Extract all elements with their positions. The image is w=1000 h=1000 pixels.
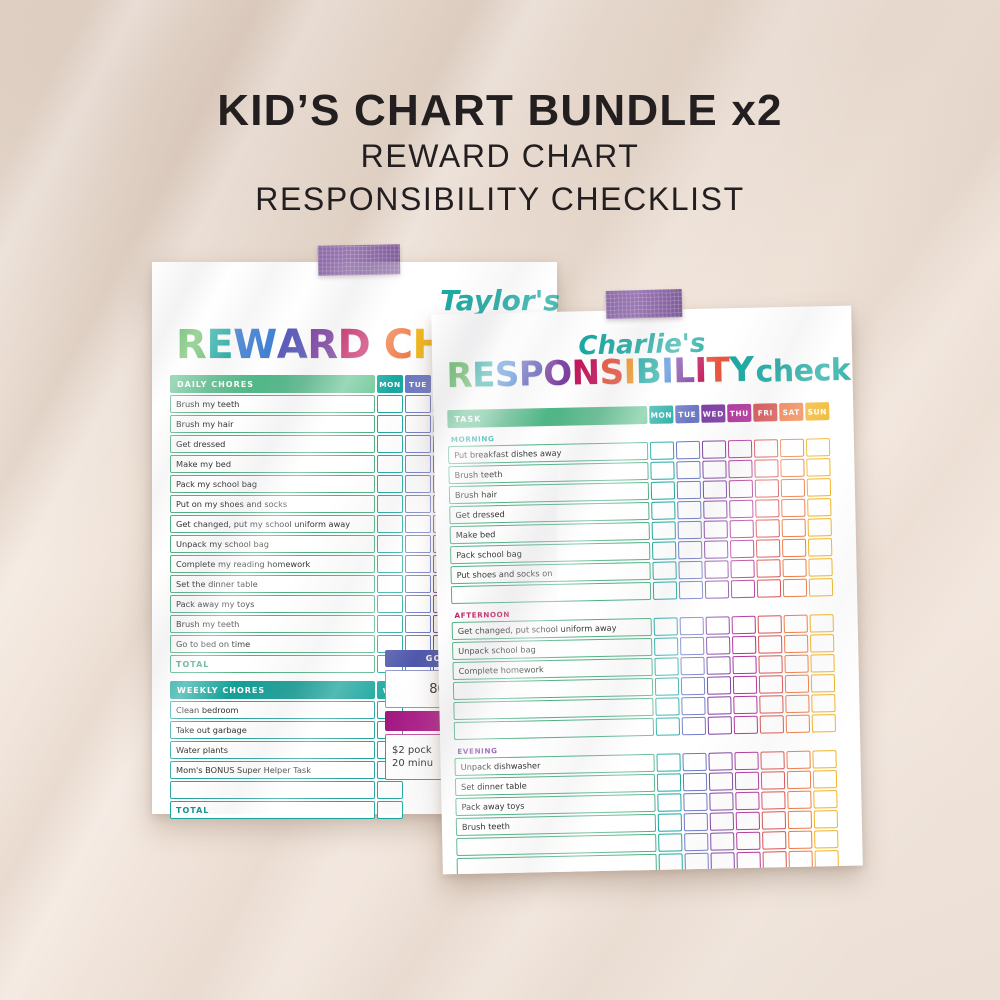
checkbox-cell-fri[interactable] <box>759 675 783 693</box>
checkbox-cell-wed[interactable] <box>707 696 731 714</box>
checkbox-cell-thu[interactable] <box>728 460 752 478</box>
checkbox-cell-tue[interactable] <box>678 561 702 579</box>
task-label[interactable]: Put on my shoes and socks <box>170 495 375 513</box>
task-label[interactable]: Complete my reading homework <box>170 555 375 573</box>
table-header-row: DAILY CHORESMONTUEWED <box>170 375 459 393</box>
checkbox-cell-thu[interactable] <box>732 656 756 674</box>
section-label: AFTERNOON <box>451 605 510 621</box>
checkbox-cell-sun[interactable] <box>806 438 830 456</box>
checkbox-cell-tue[interactable] <box>405 575 431 593</box>
checkbox-cell-mon[interactable] <box>377 535 403 553</box>
checkbox-cell-tue[interactable] <box>680 617 704 635</box>
title-letter-S-6: S <box>599 352 624 392</box>
total-row: TOTAL <box>170 801 459 819</box>
task-label[interactable]: Make bed <box>450 522 650 544</box>
checkbox-cell-thu[interactable] <box>728 440 752 458</box>
checkbox-cell-tue[interactable] <box>682 717 706 735</box>
checkbox-cell-mon[interactable] <box>657 793 681 811</box>
checkbox-cell-mon[interactable] <box>377 515 403 533</box>
table-row: Brush my hair <box>170 415 459 433</box>
checkbox-cell-fri[interactable] <box>756 539 780 557</box>
checkbox-cell-wed[interactable] <box>703 480 727 498</box>
task-label[interactable] <box>456 834 656 856</box>
checkbox-cell-fri[interactable] <box>761 791 785 809</box>
task-label[interactable]: Pack away my toys <box>170 595 375 613</box>
checkbox-cell-sun[interactable] <box>808 518 832 536</box>
task-label[interactable]: Mom's BONUS Super Helper Task <box>170 761 375 779</box>
section-label: EVENING <box>454 741 497 757</box>
checkbox-cell-fri[interactable] <box>758 635 782 653</box>
checkbox-cell-thu[interactable] <box>734 752 758 770</box>
checkbox-cell-mon[interactable] <box>653 581 677 599</box>
checkbox-cell-fri[interactable] <box>761 771 785 789</box>
table-row: Complete my reading homework <box>170 555 459 573</box>
checkbox-cell-thu[interactable] <box>733 676 757 694</box>
checkbox-cell-tue[interactable] <box>405 495 431 513</box>
checkbox-cell-sat[interactable] <box>787 791 811 809</box>
checkbox-cell-mon[interactable] <box>651 501 675 519</box>
checkbox-cell-tue[interactable] <box>405 555 431 573</box>
title-letter-R-4: R <box>307 322 337 368</box>
task-label[interactable] <box>454 718 654 740</box>
checkbox-cell-wed[interactable] <box>706 656 730 674</box>
checkbox-cell-tue[interactable] <box>681 677 705 695</box>
checkbox-cell-sun[interactable] <box>809 578 833 596</box>
checkbox-cell-tue[interactable] <box>678 541 702 559</box>
checkbox-cell-sun[interactable] <box>811 674 835 692</box>
checkbox-cell-fri[interactable] <box>755 499 779 517</box>
task-label[interactable]: Make my bed <box>170 455 375 473</box>
table-row: Put on my shoes and socks <box>170 495 459 513</box>
table-row: Pack my school bag <box>170 475 459 493</box>
checkbox-cell-tue[interactable] <box>405 595 431 613</box>
checkbox-cell-mon[interactable] <box>652 561 676 579</box>
column-header-task: WEEKLY CHORES <box>170 681 375 699</box>
checkbox-cell-tue[interactable] <box>685 853 709 871</box>
checkbox-cell-tue[interactable] <box>677 481 701 499</box>
checkbox-cell-sun[interactable] <box>807 478 831 496</box>
checkbox-cell-wed[interactable] <box>704 540 728 558</box>
checkbox-cell-tue[interactable] <box>679 581 703 599</box>
checkbox-cell-thu[interactable] <box>730 520 754 538</box>
checkbox-cell-tue[interactable] <box>682 753 706 771</box>
column-header-task: DAILY CHORES <box>170 375 375 393</box>
checkbox-cell-wed[interactable] <box>705 580 729 598</box>
title-letter-E-1: E <box>472 355 496 395</box>
checkbox-cell-tue[interactable] <box>405 615 431 633</box>
checkbox-cell-sat[interactable] <box>784 655 808 673</box>
checkbox-cell-fri[interactable] <box>760 715 784 733</box>
task-label[interactable]: Complete homework <box>452 658 652 680</box>
checkbox-cell-mon[interactable] <box>650 461 674 479</box>
column-header-task: TASK <box>447 406 647 428</box>
checkbox-cell-mon[interactable] <box>654 657 678 675</box>
checkbox-cell-fri[interactable] <box>759 695 783 713</box>
checkbox-cell-wed[interactable] <box>704 560 728 578</box>
checkbox-cell-thu[interactable] <box>732 636 756 654</box>
checkbox-cell-sat[interactable] <box>785 695 809 713</box>
washi-tape-right <box>606 289 683 319</box>
checkbox-cell-sun[interactable] <box>813 790 837 808</box>
checkbox-cell-mon[interactable] <box>656 753 680 771</box>
checkbox-cell-fri[interactable] <box>760 751 784 769</box>
task-label[interactable]: Unpack my school bag <box>170 535 375 553</box>
task-label[interactable]: Brush my teeth <box>170 395 375 413</box>
checkbox-cell-thu[interactable] <box>730 560 754 578</box>
checkbox-cell-thu[interactable] <box>730 540 754 558</box>
checkbox-cell-tue[interactable] <box>405 455 431 473</box>
checkbox-cell-sat[interactable] <box>785 675 809 693</box>
checkbox-cell-mon[interactable] <box>652 521 676 539</box>
task-label[interactable]: Put shoes and socks on <box>450 562 650 584</box>
title-letter-W-2: W <box>233 322 277 368</box>
checkbox-cell-thu[interactable] <box>733 696 757 714</box>
task-label[interactable]: Brush my teeth <box>170 615 375 633</box>
checkbox-cell-tue[interactable] <box>676 441 700 459</box>
checkbox-cell-wed[interactable] <box>706 636 730 654</box>
checkbox-cell-sat[interactable] <box>788 811 812 829</box>
checkbox-cell-mon[interactable] <box>377 555 403 573</box>
page-title: KID’S CHART BUNDLE x2 <box>0 86 1000 135</box>
checkbox-cell-sat[interactable] <box>781 479 805 497</box>
checkbox-cell-thu[interactable] <box>734 716 758 734</box>
task-label[interactable]: Get dressed <box>449 502 649 524</box>
page-subtitle-1: REWARD CHART <box>0 135 1000 178</box>
checkbox-cell-mon[interactable] <box>655 677 679 695</box>
checkbox-cell-tue[interactable] <box>405 475 431 493</box>
title-letter-space-6 <box>370 322 383 368</box>
total-cell-w1[interactable] <box>377 801 403 819</box>
checkbox-cell-tue[interactable] <box>681 697 705 715</box>
table-row: Brush my teeth <box>170 615 459 633</box>
checkbox-cell-sat[interactable] <box>782 519 806 537</box>
title-letter-I-11: I <box>694 351 707 391</box>
checkbox-cell-sat[interactable] <box>780 459 804 477</box>
checkbox-cell-tue[interactable] <box>405 515 431 533</box>
checkbox-cell-thu[interactable] <box>732 616 756 634</box>
checkbox-cell-sat[interactable] <box>782 539 806 557</box>
task-label[interactable] <box>170 781 375 799</box>
total-label: TOTAL <box>170 655 375 673</box>
task-label[interactable] <box>453 698 653 720</box>
checkbox-cell-thu[interactable] <box>729 480 753 498</box>
checkbox-cell-wed[interactable] <box>710 832 734 850</box>
table-row: Make my bed <box>170 455 459 473</box>
day-header-tue: TUE <box>405 375 431 393</box>
checkbox-cell-fri[interactable] <box>762 831 786 849</box>
checkbox-cell-tue[interactable] <box>405 395 431 413</box>
checkbox-cell-wed[interactable] <box>702 460 726 478</box>
checkbox-cell-sun[interactable] <box>808 558 832 576</box>
checkbox-cell-mon[interactable] <box>656 717 680 735</box>
day-header-mon: MON <box>377 375 403 393</box>
checkbox-cell-sun[interactable] <box>813 770 837 788</box>
page-subtitle-2: RESPONSIBILITY CHECKLIST <box>0 178 1000 221</box>
total-label: TOTAL <box>170 801 375 819</box>
washi-tape-left <box>318 244 401 275</box>
checkbox-cell-tue[interactable] <box>684 833 708 851</box>
checkbox-cell-mon[interactable] <box>650 441 674 459</box>
checkbox-cell-sun[interactable] <box>810 614 834 632</box>
title-letter-D-5: D <box>338 322 371 368</box>
checkbox-cell-fri[interactable] <box>757 579 781 597</box>
day-header-fri: FRI <box>753 403 777 421</box>
title-letter-I-9: I <box>661 351 674 391</box>
checkbox-cell-sat[interactable] <box>780 439 804 457</box>
title-script-tail: checklist <box>755 352 863 390</box>
task-label[interactable]: Take out garbage <box>170 721 375 739</box>
day-header-sat: SAT <box>779 403 803 421</box>
checkbox-cell-wed[interactable] <box>702 440 726 458</box>
checkbox-cell-tue[interactable] <box>684 813 708 831</box>
checkbox-cell-sat[interactable] <box>788 851 812 869</box>
task-label[interactable]: Get changed, put my school uniform away <box>170 515 375 533</box>
title-letter-Y-13: Y <box>729 350 754 390</box>
checkbox-cell-sun[interactable] <box>814 810 838 828</box>
day-header-thu: THU <box>727 404 751 422</box>
checkbox-cell-tue[interactable] <box>405 535 431 553</box>
checkbox-cell-thu[interactable] <box>731 580 755 598</box>
task-label[interactable]: Put breakfast dishes away <box>448 442 648 464</box>
checkbox-cell-fri[interactable] <box>758 655 782 673</box>
checkbox-cell-fri[interactable] <box>755 479 779 497</box>
table-row: Unpack my school bag <box>170 535 459 553</box>
task-label[interactable]: Pack school bag <box>450 542 650 564</box>
title-letter-L-10: L <box>673 351 695 391</box>
page-header: KID’S CHART BUNDLE x2 REWARD CHART RESPO… <box>0 86 1000 222</box>
checkbox-cell-sun[interactable] <box>808 538 832 556</box>
checkbox-cell-wed[interactable] <box>704 520 728 538</box>
checkbox-cell-sat[interactable] <box>781 499 805 517</box>
day-header-sun: SUN <box>805 402 829 420</box>
checkbox-cell-wed[interactable] <box>708 716 732 734</box>
title-letter-A-3: A <box>277 322 307 368</box>
title-letter-R-0: R <box>446 356 473 397</box>
checkbox-cell-sun[interactable] <box>814 850 838 868</box>
checkbox-cell-tue[interactable] <box>677 501 701 519</box>
checkbox-cell-fri[interactable] <box>763 851 787 869</box>
task-label[interactable]: Brush teeth <box>448 462 648 484</box>
title-letter-C-7: C <box>384 322 413 368</box>
checkbox-cell-wed[interactable] <box>703 500 727 518</box>
task-label[interactable]: Get changed, put school uniform away <box>452 618 652 640</box>
title-letter-O-4: O <box>543 354 572 395</box>
checkbox-cell-tue[interactable] <box>680 657 704 675</box>
checkbox-cell-tue[interactable] <box>405 435 431 453</box>
checkbox-cell-sat[interactable] <box>786 751 810 769</box>
checkbox-cell-mon[interactable] <box>654 617 678 635</box>
title-letter-T-12: T <box>706 350 730 390</box>
task-label[interactable] <box>453 678 653 700</box>
task-label[interactable]: Set dinner table <box>455 774 655 796</box>
checkbox-cell-mon[interactable] <box>377 435 403 453</box>
title-letter-I-7: I <box>623 352 636 392</box>
table-row: Set the dinner table <box>170 575 459 593</box>
task-label[interactable]: Pack away toys <box>455 794 655 816</box>
checkbox-cell-mon[interactable] <box>657 773 681 791</box>
checkbox-cell-wed[interactable] <box>706 616 730 634</box>
task-label[interactable] <box>451 582 651 604</box>
checkbox-cell-sat[interactable] <box>788 831 812 849</box>
checkbox-cell-wed[interactable] <box>709 792 733 810</box>
checkbox-cell-tue[interactable] <box>405 415 431 433</box>
checkbox-cell-mon[interactable] <box>377 475 403 493</box>
table-row: Pack away my toys <box>170 595 459 613</box>
checkbox-cell-mon[interactable] <box>655 697 679 715</box>
task-label[interactable]: Unpack dishwasher <box>454 754 654 776</box>
checkbox-cell-sun[interactable] <box>810 634 834 652</box>
task-label[interactable]: Water plants <box>170 741 375 759</box>
checkbox-cell-wed[interactable] <box>709 772 733 790</box>
checkbox-cell-sat[interactable] <box>784 635 808 653</box>
day-header-mon: MON <box>649 405 673 423</box>
checkbox-cell-fri[interactable] <box>756 519 780 537</box>
checkbox-cell-w1[interactable] <box>377 781 403 799</box>
checkbox-cell-mon[interactable] <box>654 637 678 655</box>
checkbox-cell-mon[interactable] <box>377 615 403 633</box>
task-label[interactable]: Set the dinner table <box>170 575 375 593</box>
day-header-tue: TUE <box>675 405 699 423</box>
checkbox-cell-thu[interactable] <box>735 792 759 810</box>
checkbox-cell-wed[interactable] <box>711 852 735 870</box>
title-letter-E-1: E <box>206 322 233 368</box>
day-header-wed: WED <box>701 404 725 422</box>
checkbox-cell-thu[interactable] <box>736 812 760 830</box>
table-row: Get changed, put my school uniform away <box>170 515 459 533</box>
checkbox-cell-sun[interactable] <box>811 694 835 712</box>
checkbox-cell-mon[interactable] <box>377 575 403 593</box>
section-label: MORNING <box>448 429 495 445</box>
checkbox-cell-wed[interactable] <box>707 676 731 694</box>
task-label[interactable]: Brush my hair <box>170 415 375 433</box>
checkbox-cell-sun[interactable] <box>814 830 838 848</box>
checkbox-cell-mon[interactable] <box>658 813 682 831</box>
checkbox-cell-mon[interactable] <box>658 833 682 851</box>
title-letter-P-3: P <box>518 354 543 395</box>
title-letter-R-0: R <box>176 322 206 368</box>
checkbox-cell-sun[interactable] <box>812 714 836 732</box>
responsibility-checklist-sheet[interactable]: Charlie's RESPONSIBILITYchecklist TASKMO… <box>431 306 863 875</box>
title-letter-S-2: S <box>494 355 519 395</box>
reward-chart-title: REWARD CH <box>176 322 446 368</box>
checkbox-cell-sat[interactable] <box>787 771 811 789</box>
checkbox-cell-sat[interactable] <box>784 615 808 633</box>
checkbox-cell-fri[interactable] <box>756 559 780 577</box>
checkbox-cell-mon[interactable] <box>659 853 683 871</box>
checkbox-cell-mon[interactable] <box>377 455 403 473</box>
checkbox-cell-mon[interactable] <box>377 595 403 613</box>
task-label[interactable]: Unpack school bag <box>452 638 652 660</box>
checkbox-cell-tue[interactable] <box>680 637 704 655</box>
task-label[interactable]: Go to bed on time <box>170 635 375 653</box>
checkbox-cell-mon[interactable] <box>377 415 403 433</box>
checklist-title: RESPONSIBILITYchecklist <box>446 347 863 397</box>
task-label[interactable]: Brush hair <box>449 482 649 504</box>
checkbox-cell-thu[interactable] <box>729 500 753 518</box>
checkbox-cell-mon[interactable] <box>651 481 675 499</box>
checkbox-cell-fri[interactable] <box>754 459 778 477</box>
title-letter-N-5: N <box>571 353 600 394</box>
checkbox-cell-fri[interactable] <box>758 615 782 633</box>
checkbox-cell-wed[interactable] <box>710 812 734 830</box>
checkbox-cell-sat[interactable] <box>782 559 806 577</box>
checkbox-cell-sun[interactable] <box>806 458 830 476</box>
checkbox-cell-sun[interactable] <box>807 498 831 516</box>
checkbox-cell-tue[interactable] <box>678 521 702 539</box>
checklist-table: TASKMONTUEWEDTHUFRISATSUNMORNINGPut brea… <box>447 402 839 874</box>
task-label[interactable]: Clean bedroom <box>170 701 375 719</box>
checkbox-cell-sat[interactable] <box>783 579 807 597</box>
checkbox-cell-sun[interactable] <box>812 750 836 768</box>
checkbox-cell-thu[interactable] <box>735 772 759 790</box>
checkbox-cell-tue[interactable] <box>676 461 700 479</box>
checkbox-cell-mon[interactable] <box>377 395 403 413</box>
checkbox-cell-fri[interactable] <box>762 811 786 829</box>
table-row: Brush my teeth <box>170 395 459 413</box>
checkbox-cell-wed[interactable] <box>708 752 732 770</box>
task-label[interactable]: Get dressed <box>170 435 375 453</box>
checkbox-cell-tue[interactable] <box>683 793 707 811</box>
title-letter-B-8: B <box>635 352 661 393</box>
table-row <box>170 781 459 799</box>
checkbox-cell-fri[interactable] <box>754 439 778 457</box>
checkbox-cell-sat[interactable] <box>786 715 810 733</box>
checkbox-cell-sun[interactable] <box>810 654 834 672</box>
checkbox-cell-thu[interactable] <box>737 852 761 870</box>
task-label[interactable]: Brush teeth <box>456 814 656 836</box>
checkbox-cell-tue[interactable] <box>683 773 707 791</box>
checkbox-cell-thu[interactable] <box>736 832 760 850</box>
task-label[interactable]: Pack my school bag <box>170 475 375 493</box>
table-row: Get dressed <box>170 435 459 453</box>
checkbox-cell-mon[interactable] <box>377 495 403 513</box>
checkbox-cell-mon[interactable] <box>652 541 676 559</box>
